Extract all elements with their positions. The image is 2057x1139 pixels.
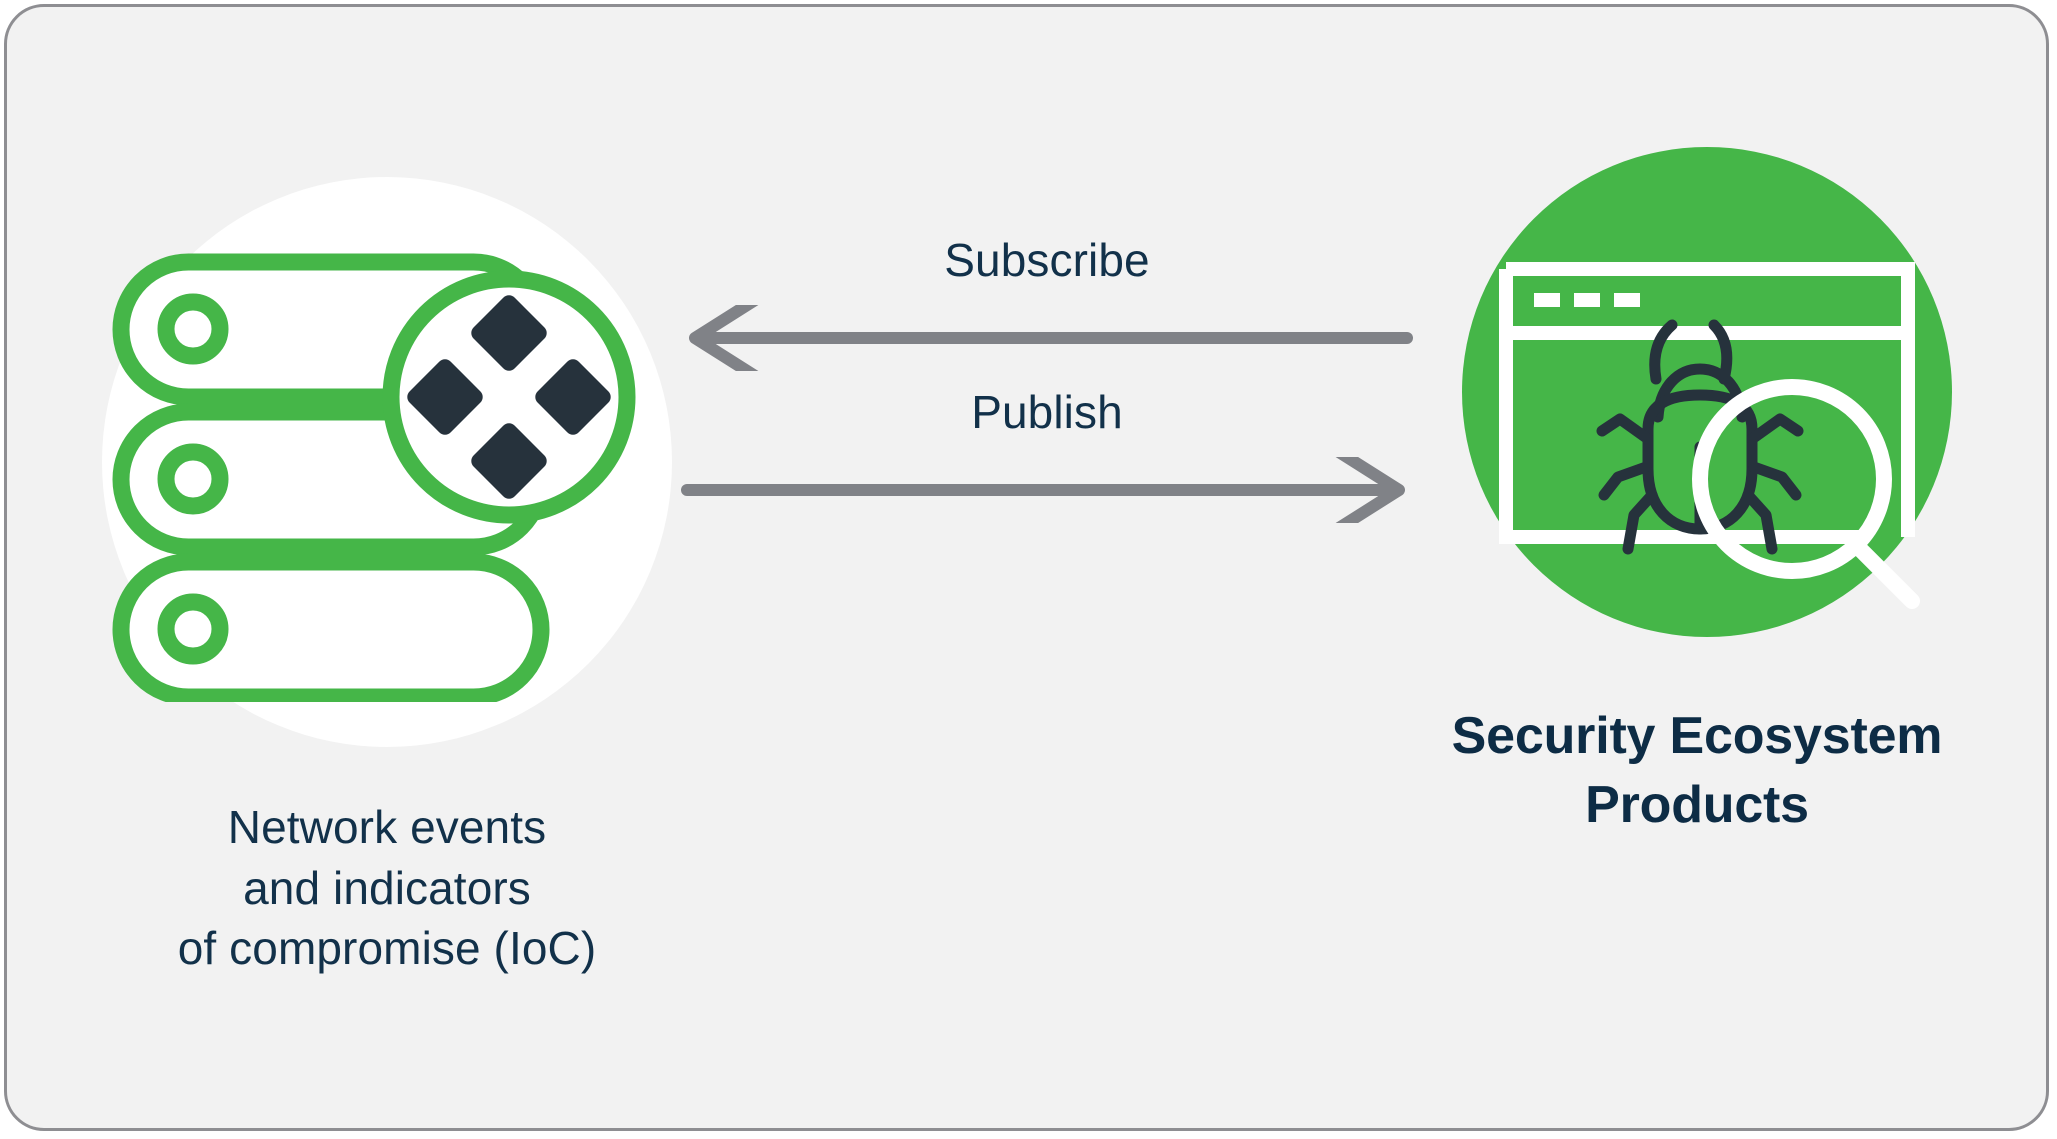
- left-node: Network events and indicators of comprom…: [97, 177, 677, 977]
- magnifier-icon: [1700, 387, 1912, 601]
- subscribe-arrow-label: Subscribe: [677, 237, 1417, 283]
- left-node-caption: Network events and indicators of comprom…: [97, 797, 677, 979]
- right-node: Security Ecosystem Products: [1407, 147, 1987, 977]
- left-caption-line-3: of compromise (IoC): [97, 918, 677, 979]
- left-caption-line-2: and indicators: [97, 858, 677, 919]
- browser-dots-icon: [1534, 293, 1640, 307]
- diagram-card: Network events and indicators of comprom…: [4, 4, 2049, 1131]
- right-caption-line-1: Security Ecosystem: [1377, 702, 2017, 771]
- publish-arrow-group: Publish: [677, 389, 1417, 523]
- server-stack-icon: [97, 232, 677, 702]
- four-diamond-badge-icon: [391, 279, 627, 515]
- right-caption-line-2: Products: [1377, 771, 2017, 840]
- arrow-left-icon: [677, 305, 1417, 371]
- browser-bug-magnifier-icon: [1462, 147, 1952, 637]
- subscribe-arrow-group: Subscribe: [677, 237, 1417, 371]
- left-caption-line-1: Network events: [97, 797, 677, 858]
- diagram-canvas: Network events and indicators of comprom…: [0, 0, 2057, 1139]
- arrow-right-icon: [677, 457, 1417, 523]
- publish-arrow-label: Publish: [677, 389, 1417, 435]
- right-node-caption: Security Ecosystem Products: [1377, 702, 2017, 839]
